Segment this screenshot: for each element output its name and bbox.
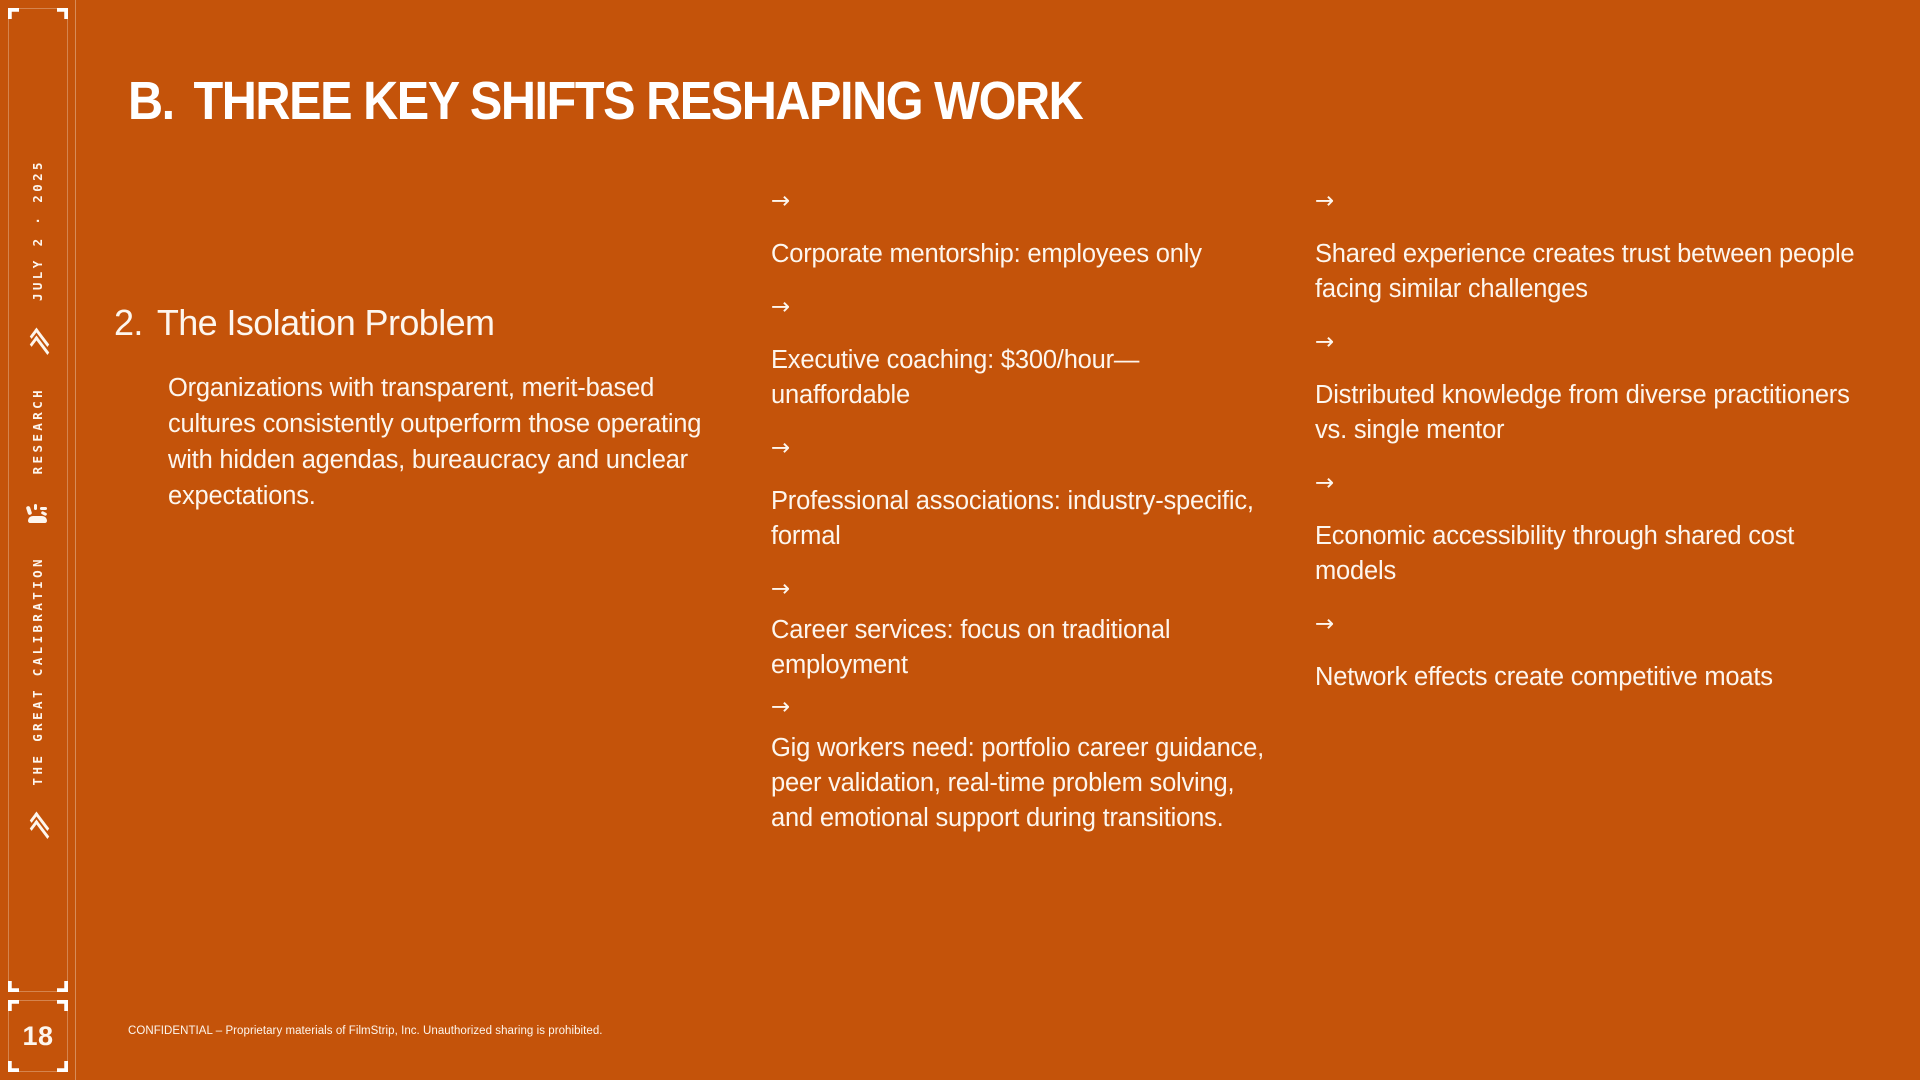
- column-middle: → Corporate mentorship: employees only →…: [771, 190, 1276, 850]
- rail-deck-label: THE GREAT CALIBRATION: [32, 556, 45, 785]
- list-item: → Corporate mentorship: employees only: [771, 190, 1276, 272]
- chevron-up-double-icon: [26, 331, 50, 357]
- arrow-right-icon: →: [771, 437, 1276, 460]
- arrow-right-icon: →: [771, 296, 1276, 319]
- arrow-right-icon: →: [771, 578, 1276, 601]
- list-item: → Gig workers need: portfolio career gui…: [771, 696, 1276, 836]
- arrow-right-icon: →: [771, 696, 1276, 719]
- list-item-text: Economic accessibility through shared co…: [1315, 519, 1860, 589]
- left-heading-number: 2.: [114, 302, 143, 344]
- content-columns: 2. The Isolation Problem Organizations w…: [114, 190, 1874, 990]
- left-body-text: Organizations with transparent, merit-ba…: [168, 370, 708, 515]
- list-item: → Economic accessibility through shared …: [1315, 472, 1860, 589]
- arrow-right-icon: →: [1315, 613, 1860, 636]
- rail-section-label: RESEARCH: [32, 387, 45, 474]
- spark-mark-icon: [25, 504, 51, 526]
- title-text: THREE KEY SHIFTS RESHAPING WORK: [194, 74, 1083, 128]
- arrow-right-icon: →: [1315, 331, 1860, 354]
- list-item: → Career services: focus on traditional …: [771, 578, 1276, 683]
- list-item: → Professional associations: industry-sp…: [771, 437, 1276, 554]
- page-title: B. THREE KEY SHIFTS RESHAPING WORK: [128, 74, 1082, 128]
- arrow-right-icon: →: [1315, 472, 1860, 495]
- rail-date-label: JULY 2 · 2025: [32, 159, 45, 301]
- confidential-notice: CONFIDENTIAL – Proprietary materials of …: [128, 1025, 603, 1037]
- column-left: 2. The Isolation Problem Organizations w…: [114, 190, 734, 515]
- list-item-text: Network effects create competitive moats: [1315, 660, 1860, 695]
- rail-label-stack: JULY 2 · 2025 RESEARCH THE GREAT CALIBRA…: [0, 8, 76, 992]
- title-marker: B.: [128, 74, 174, 128]
- list-item: → Shared experience creates trust betwee…: [1315, 190, 1860, 307]
- page-number: 18: [0, 1000, 76, 1072]
- slide-root: JULY 2 · 2025 RESEARCH THE GREAT CALIBRA…: [0, 0, 1920, 1080]
- column-right: → Shared experience creates trust betwee…: [1315, 190, 1860, 718]
- arrow-right-icon: →: [1315, 190, 1860, 213]
- arrow-right-icon: →: [771, 190, 1276, 213]
- list-item: → Distributed knowledge from diverse pra…: [1315, 331, 1860, 448]
- left-heading-text: The Isolation Problem: [157, 302, 495, 344]
- list-item: → Network effects create competitive moa…: [1315, 613, 1860, 695]
- list-item-text: Professional associations: industry-spec…: [771, 484, 1276, 554]
- left-rail: JULY 2 · 2025 RESEARCH THE GREAT CALIBRA…: [0, 0, 76, 1080]
- list-item-text: Career services: focus on traditional em…: [771, 613, 1276, 683]
- list-item-text: Gig workers need: portfolio career guida…: [771, 731, 1276, 836]
- list-item: → Executive coaching: $300/hour—unafford…: [771, 296, 1276, 413]
- list-item-text: Executive coaching: $300/hour—unaffordab…: [771, 343, 1276, 413]
- chevron-up-double-icon: [26, 815, 50, 841]
- list-item-text: Distributed knowledge from diverse pract…: [1315, 378, 1860, 448]
- list-item-text: Shared experience creates trust between …: [1315, 237, 1860, 307]
- list-item-text: Corporate mentorship: employees only: [771, 237, 1276, 272]
- left-heading: 2. The Isolation Problem: [114, 302, 734, 344]
